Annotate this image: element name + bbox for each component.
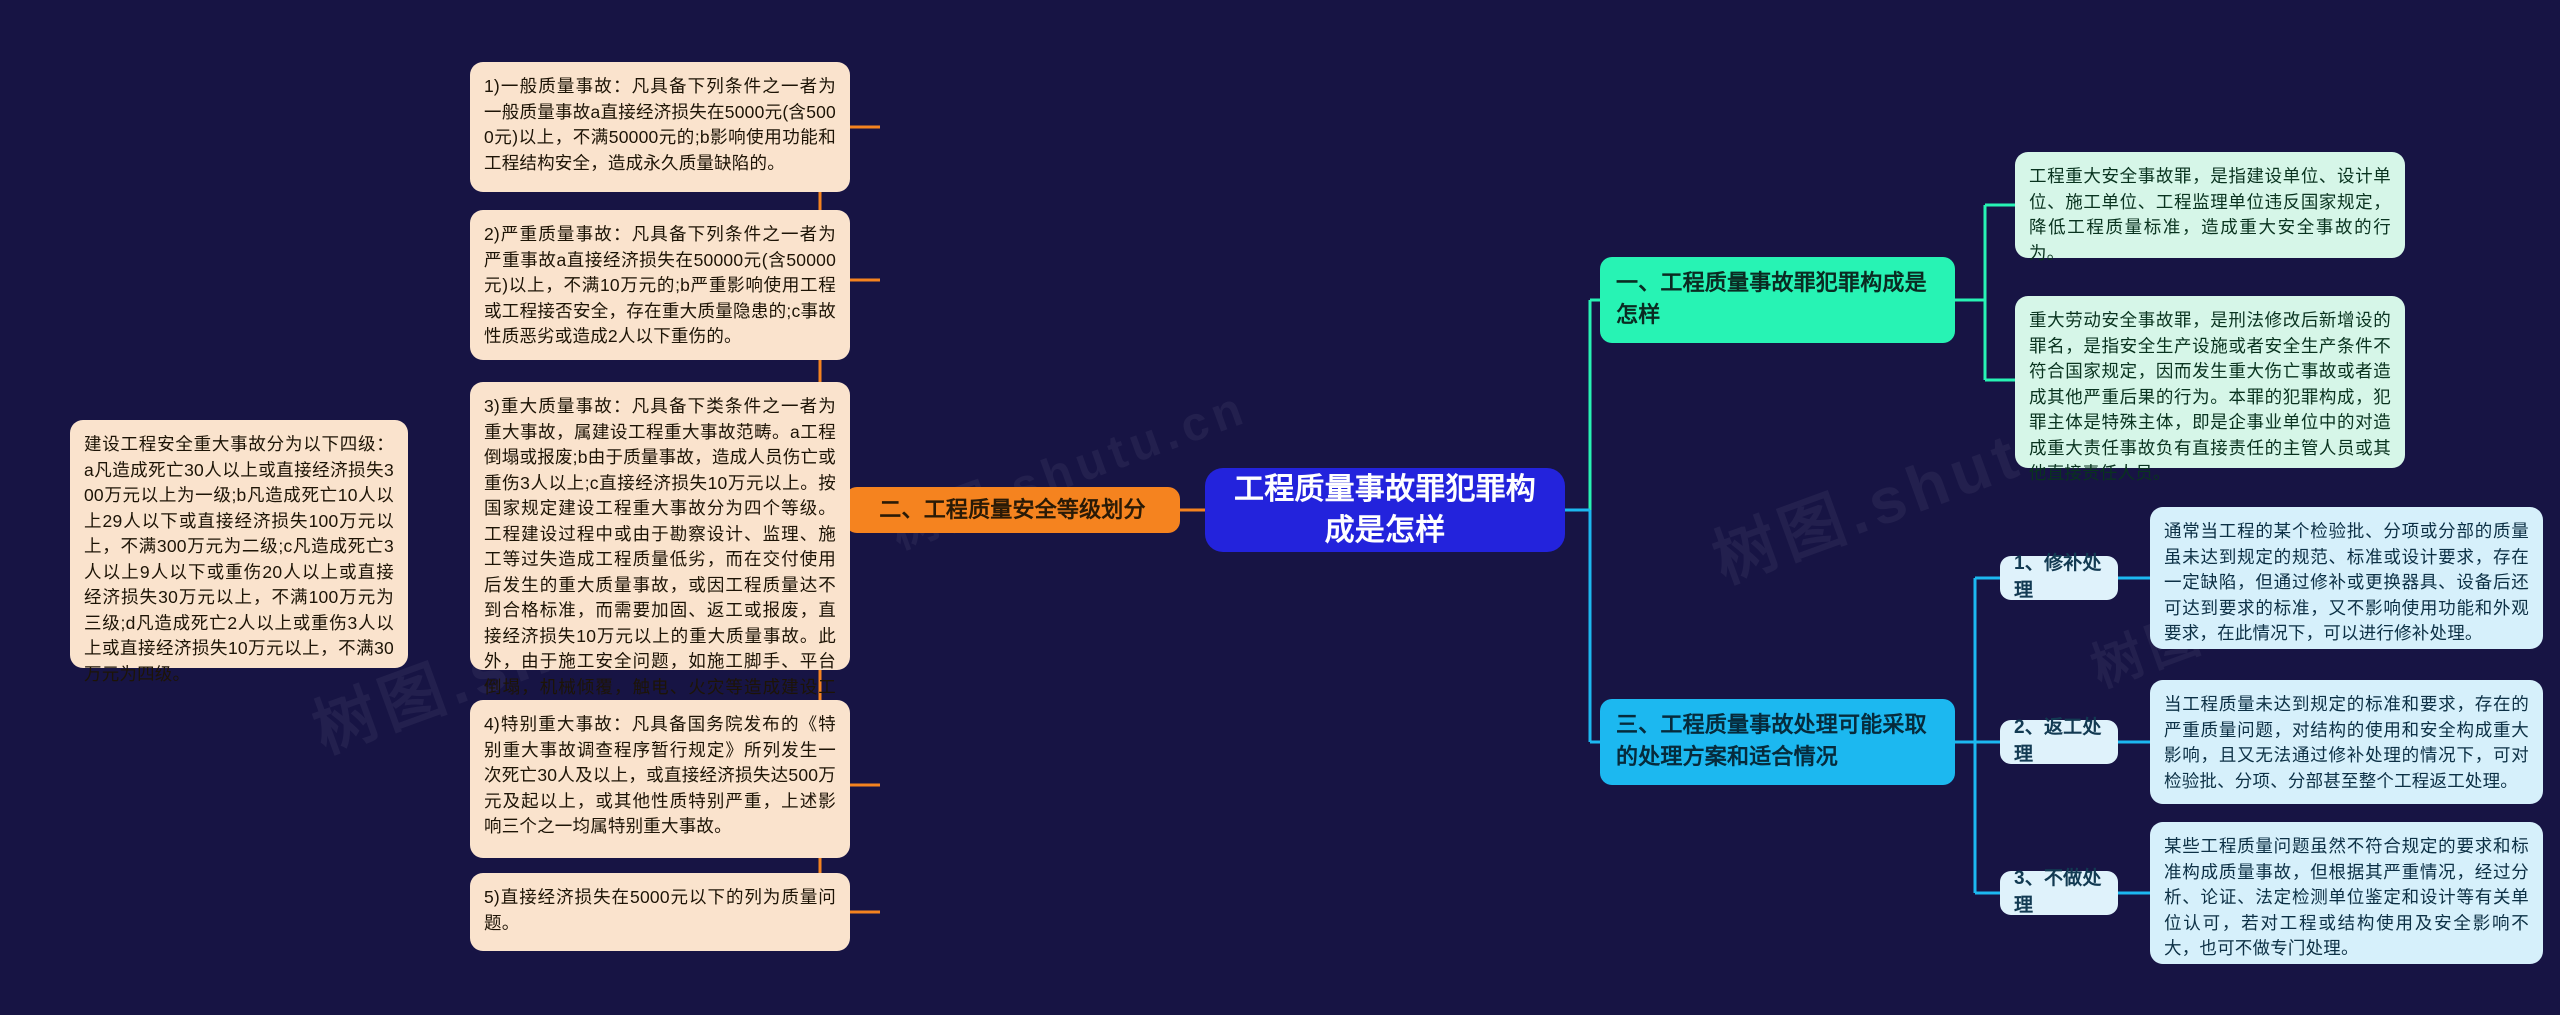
chip-3-label: 3、不做处理 xyxy=(2014,866,2104,920)
left-card-3[interactable]: 3)重大质量事故：凡具备下类条件之一者为重大事故，属建设工程重大事故范畴。a工程… xyxy=(470,382,850,670)
right-bottom-card-3-text: 某些工程质量问题虽然不符合规定的要求和标准构成质量事故，但根据其严重情况，经过分… xyxy=(2164,834,2529,962)
branch-right-top-label: 一、工程质量事故罪犯罪构成是怎样 xyxy=(1616,267,1939,331)
right-top-card-1[interactable]: 工程重大安全事故罪，是指建设单位、设计单位、施工单位、工程监理单位违反国家规定，… xyxy=(2015,152,2405,258)
root-node-label: 工程质量事故罪犯罪构成是怎样 xyxy=(1223,469,1547,552)
left-card-2[interactable]: 2)严重质量事故：凡具备下列条件之一者为严重事故a直接经济损失在50000元(含… xyxy=(470,210,850,360)
branch-right-top[interactable]: 一、工程质量事故罪犯罪构成是怎样 xyxy=(1600,257,1955,343)
right-top-card-2-text: 重大劳动安全事故罪，是刑法修改后新增设的罪名，是指安全生产设施或者安全生产条件不… xyxy=(2029,308,2391,487)
left-card-5-text: 5)直接经济损失在5000元以下的列为质量问题。 xyxy=(484,885,836,936)
right-bottom-card-1[interactable]: 通常当工程的某个检验批、分项或分部的质量虽未达到规定的规范、标准或设计要求，存在… xyxy=(2150,507,2543,649)
left-card-3-text: 3)重大质量事故：凡具备下类条件之一者为重大事故，属建设工程重大事故范畴。a工程… xyxy=(484,394,836,726)
branch-left-label: 二、工程质量安全等级划分 xyxy=(861,494,1164,525)
right-bottom-card-2-text: 当工程质量未达到规定的标准和要求，存在的严重质量问题，对结构的使用和安全构成重大… xyxy=(2164,692,2529,794)
left-card-1[interactable]: 1)一般质量事故：凡具备下列条件之一者为一般质量事故a直接经济损失在5000元(… xyxy=(470,62,850,192)
mindmap-canvas: 树图.shutu.cn 树图.shutu.cn 树图.shutu.cn 树图.s… xyxy=(0,0,2560,1015)
root-node[interactable]: 工程质量事故罪犯罪构成是怎样 xyxy=(1205,468,1565,552)
branch-right-bottom-label: 三、工程质量事故处理可能采取的处理方案和适合情况 xyxy=(1616,709,1939,773)
right-top-card-2[interactable]: 重大劳动安全事故罪，是刑法修改后新增设的罪名，是指安全生产设施或者安全生产条件不… xyxy=(2015,296,2405,468)
left-card-4-text: 4)特别重大事故：凡具备国务院发布的《特别重大事故调查程序暂行规定》所列发生一次… xyxy=(484,712,836,840)
left-card-5[interactable]: 5)直接经济损失在5000元以下的列为质量问题。 xyxy=(470,873,850,951)
chip-3[interactable]: 3、不做处理 xyxy=(2000,871,2118,915)
chip-1[interactable]: 1、修补处理 xyxy=(2000,556,2118,600)
chip-2[interactable]: 2、返工处理 xyxy=(2000,720,2118,764)
left-card-2-text: 2)严重质量事故：凡具备下列条件之一者为严重事故a直接经济损失在50000元(含… xyxy=(484,222,836,350)
left-card-4[interactable]: 4)特别重大事故：凡具备国务院发布的《特别重大事故调查程序暂行规定》所列发生一次… xyxy=(470,700,850,858)
chip-1-label: 1、修补处理 xyxy=(2014,551,2104,605)
right-bottom-card-3[interactable]: 某些工程质量问题虽然不符合规定的要求和标准构成质量事故，但根据其严重情况，经过分… xyxy=(2150,822,2543,964)
branch-right-bottom[interactable]: 三、工程质量事故处理可能采取的处理方案和适合情况 xyxy=(1600,699,1955,785)
right-bottom-card-1-text: 通常当工程的某个检验批、分项或分部的质量虽未达到规定的规范、标准或设计要求，存在… xyxy=(2164,519,2529,647)
branch-left[interactable]: 二、工程质量安全等级划分 xyxy=(845,487,1180,533)
left-outer-card[interactable]: 建设工程安全重大事故分为以下四级：a凡造成死亡30人以上或直接经济损失300万元… xyxy=(70,420,408,668)
right-top-card-1-text: 工程重大安全事故罪，是指建设单位、设计单位、施工单位、工程监理单位违反国家规定，… xyxy=(2029,164,2391,266)
right-bottom-card-2[interactable]: 当工程质量未达到规定的标准和要求，存在的严重质量问题，对结构的使用和安全构成重大… xyxy=(2150,680,2543,804)
chip-2-label: 2、返工处理 xyxy=(2014,715,2104,769)
left-card-1-text: 1)一般质量事故：凡具备下列条件之一者为一般质量事故a直接经济损失在5000元(… xyxy=(484,74,836,176)
left-outer-card-text: 建设工程安全重大事故分为以下四级：a凡造成死亡30人以上或直接经济损失300万元… xyxy=(84,432,394,687)
